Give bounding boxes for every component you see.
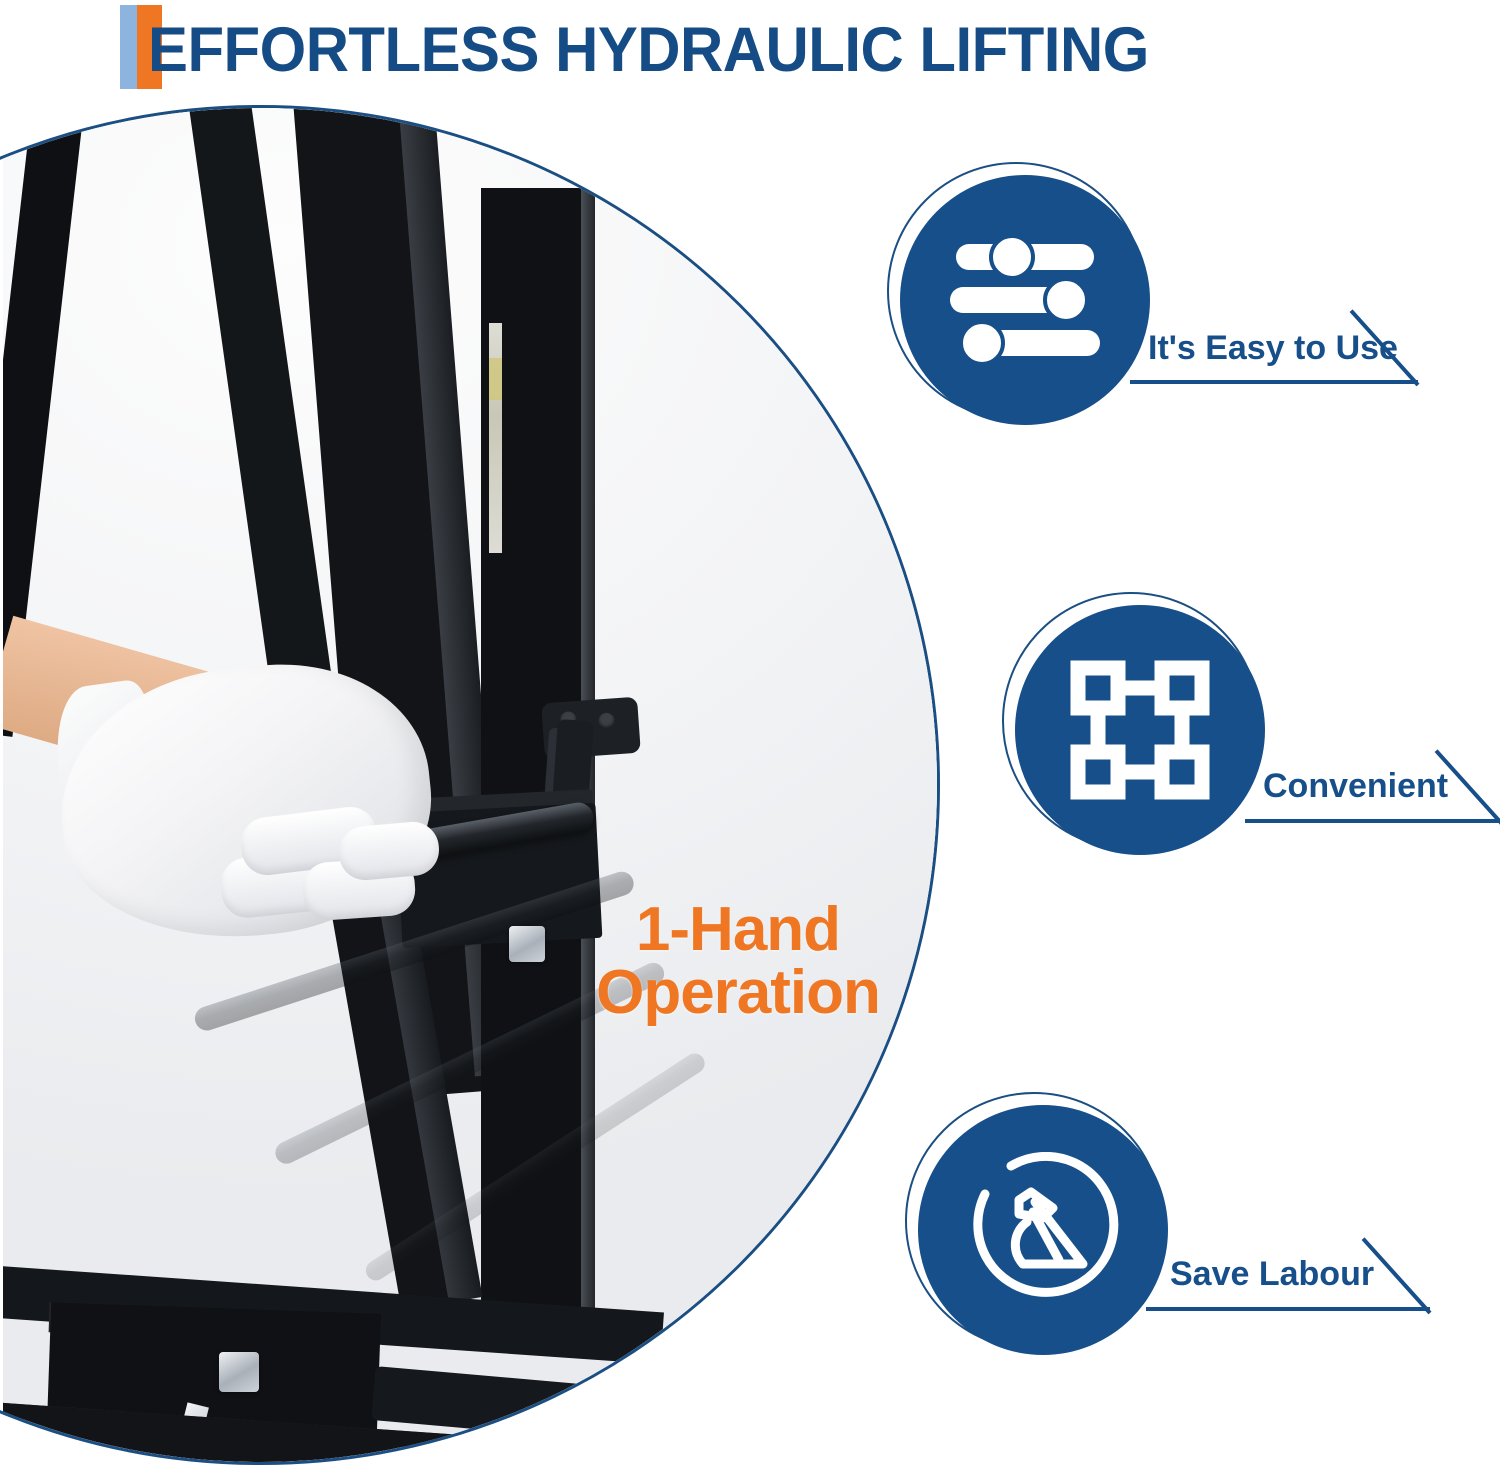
badge-circle-save-labour [918,1105,1168,1355]
no-manual-labour-hammer-icon [965,1152,1121,1308]
product-photo-circle [0,105,940,1465]
page-header: EFFORTLESS HYDRAULIC LIFTING [0,0,1500,100]
badge-circle-easy [900,175,1150,425]
accent-stripe-blue [120,5,137,89]
page-title: EFFORTLESS HYDRAULIC LIFTING [148,0,1149,100]
badge-circle-convenient [1015,605,1265,855]
feature-label-save-labour: Save Labour [1170,1255,1374,1294]
operation-text-line2: Operation [548,961,928,1024]
callout-underline [1245,819,1500,823]
network-grid-icon [1070,660,1210,800]
product-label-sticker-band [489,358,502,400]
hex-bolt [509,926,545,962]
hex-bolt [697,1390,723,1416]
callout-underline [1130,380,1418,384]
sliders-icon [950,230,1100,370]
product-photo [3,108,940,1465]
callout-underline [1146,1307,1430,1311]
feature-label-easy: It's Easy to Use [1148,329,1398,368]
feature-label-convenient: Convenient [1263,767,1448,806]
operation-text-line1: 1-Hand [636,895,840,964]
hex-bolt [219,1352,259,1392]
one-hand-operation-text: 1-Hand Operation [548,898,928,1024]
rivet [598,712,615,729]
